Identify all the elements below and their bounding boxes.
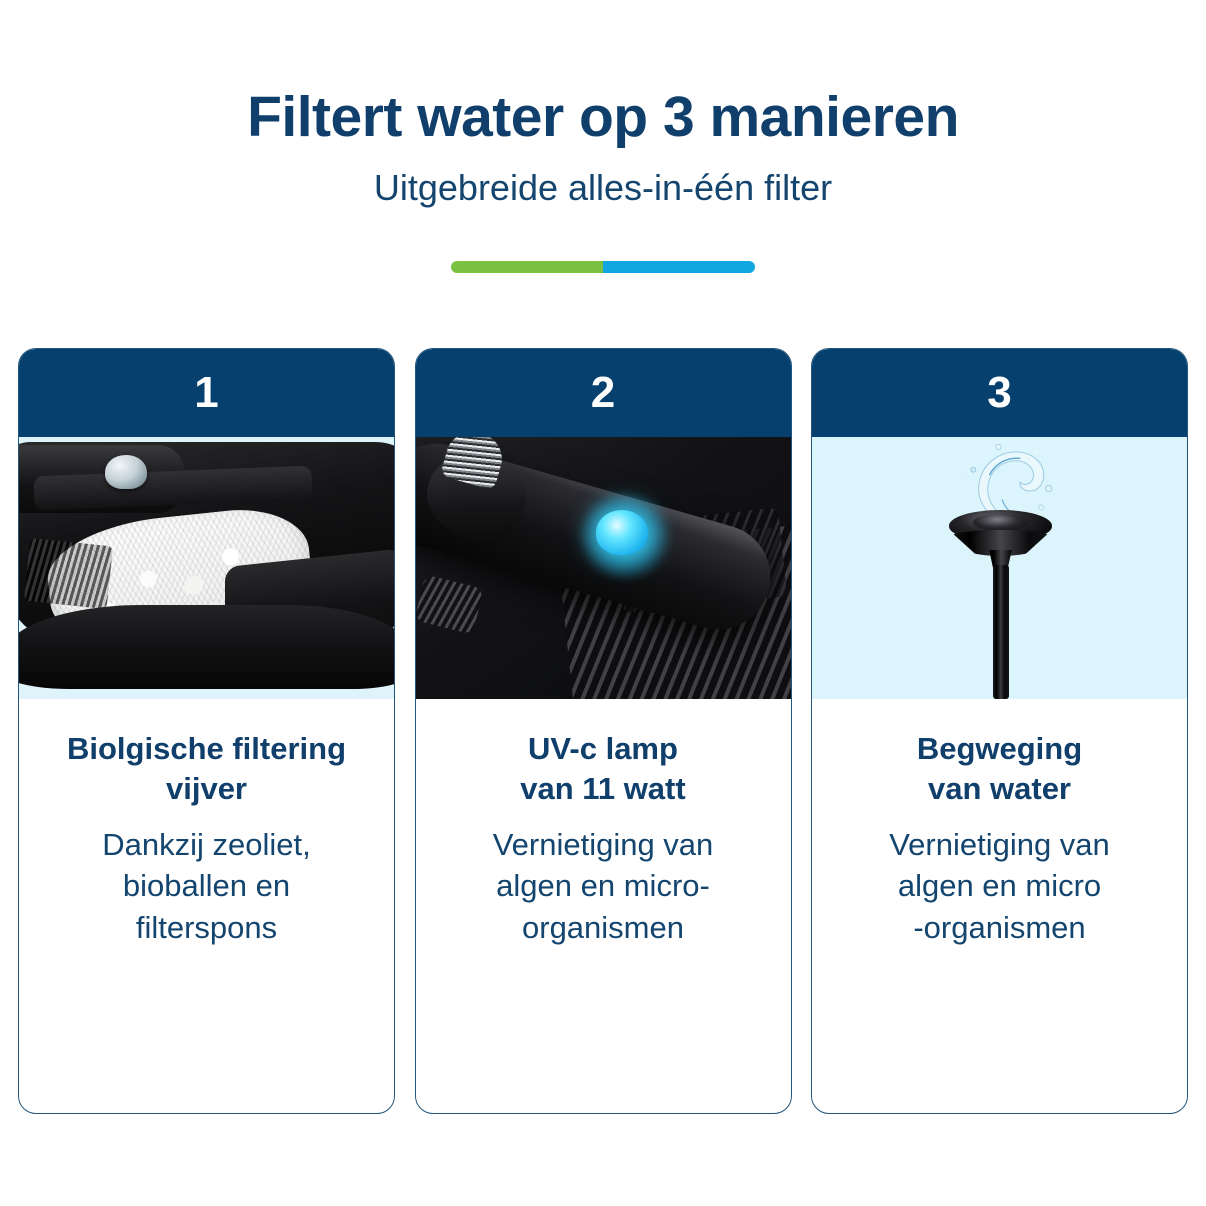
divider-blue-half xyxy=(603,261,755,273)
filter-vents-shape xyxy=(23,538,112,609)
card-1-title: Biolgische filtering vijver xyxy=(41,729,372,810)
card-2-text: Vernietiging van algen en micro- organis… xyxy=(438,824,769,949)
card-2-number: 2 xyxy=(591,371,615,415)
fountain-pipe-shape xyxy=(993,565,1010,699)
divider-wrap xyxy=(0,261,1206,273)
feature-card-1: 1 Biolgische filtering vijver Dank xyxy=(18,348,395,1114)
page-title: Filtert water op 3 manieren xyxy=(0,86,1206,150)
card-2-text-line-1: Vernietiging van xyxy=(438,824,769,866)
card-3-text-line-3: -organismen xyxy=(834,907,1165,949)
card-3-header: 3 xyxy=(812,349,1187,437)
card-3-text-line-2: algen en micro xyxy=(834,865,1165,907)
accent-divider xyxy=(451,261,755,273)
filter-front-wall-shape xyxy=(19,605,394,689)
feature-card-2: 2 UV-c lamp van 11 watt Vernietigi xyxy=(415,348,792,1114)
card-1-body: Biolgische filtering vijver Dankzij zeol… xyxy=(19,699,394,1113)
card-2-title: UV-c lamp van 11 watt xyxy=(438,729,769,810)
feature-cards-row: 1 Biolgische filtering vijver Dank xyxy=(18,348,1188,1114)
card-1-title-line-1: Biolgische filtering xyxy=(41,729,372,769)
card-1-header: 1 xyxy=(19,349,394,437)
uv-indicator-light xyxy=(596,510,649,555)
card-3-image xyxy=(812,437,1187,699)
page-subtitle: Uitgebreide alles-in-één filter xyxy=(0,166,1206,209)
infographic-page: Filtert water op 3 manieren Uitgebreide … xyxy=(0,0,1206,1206)
card-1-text-line-3: filterspons xyxy=(41,907,372,949)
card-3-text-line-1: Vernietiging van xyxy=(834,824,1165,866)
filter-knob-shape xyxy=(105,455,146,489)
card-2-title-line-1: UV-c lamp xyxy=(438,729,769,769)
card-2-body: UV-c lamp van 11 watt Vernietiging van a… xyxy=(416,699,791,1113)
card-1-image xyxy=(19,437,394,699)
card-2-header: 2 xyxy=(416,349,791,437)
card-1-number: 1 xyxy=(194,371,218,415)
card-3-text: Vernietiging van algen en micro -organis… xyxy=(834,824,1165,949)
divider-green-half xyxy=(451,261,603,273)
card-1-text-line-1: Dankzij zeoliet, xyxy=(41,824,372,866)
feature-card-3: 3 xyxy=(811,348,1188,1114)
card-2-title-line-2: van 11 watt xyxy=(438,769,769,809)
card-3-title-line-1: Begweging xyxy=(834,729,1165,769)
header-block: Filtert water op 3 manieren Uitgebreide … xyxy=(0,86,1206,209)
card-3-number: 3 xyxy=(987,371,1011,415)
card-3-title: Begweging van water xyxy=(834,729,1165,810)
card-3-title-line-2: van water xyxy=(834,769,1165,809)
card-2-image xyxy=(416,437,791,699)
card-1-text: Dankzij zeoliet, bioballen en filterspon… xyxy=(41,824,372,949)
card-3-body: Begweging van water Vernietiging van alg… xyxy=(812,699,1187,1113)
card-2-text-line-2: algen en micro- xyxy=(438,865,769,907)
card-1-title-line-2: vijver xyxy=(41,769,372,809)
card-2-text-line-3: organismen xyxy=(438,907,769,949)
card-1-text-line-2: bioballen en xyxy=(41,865,372,907)
